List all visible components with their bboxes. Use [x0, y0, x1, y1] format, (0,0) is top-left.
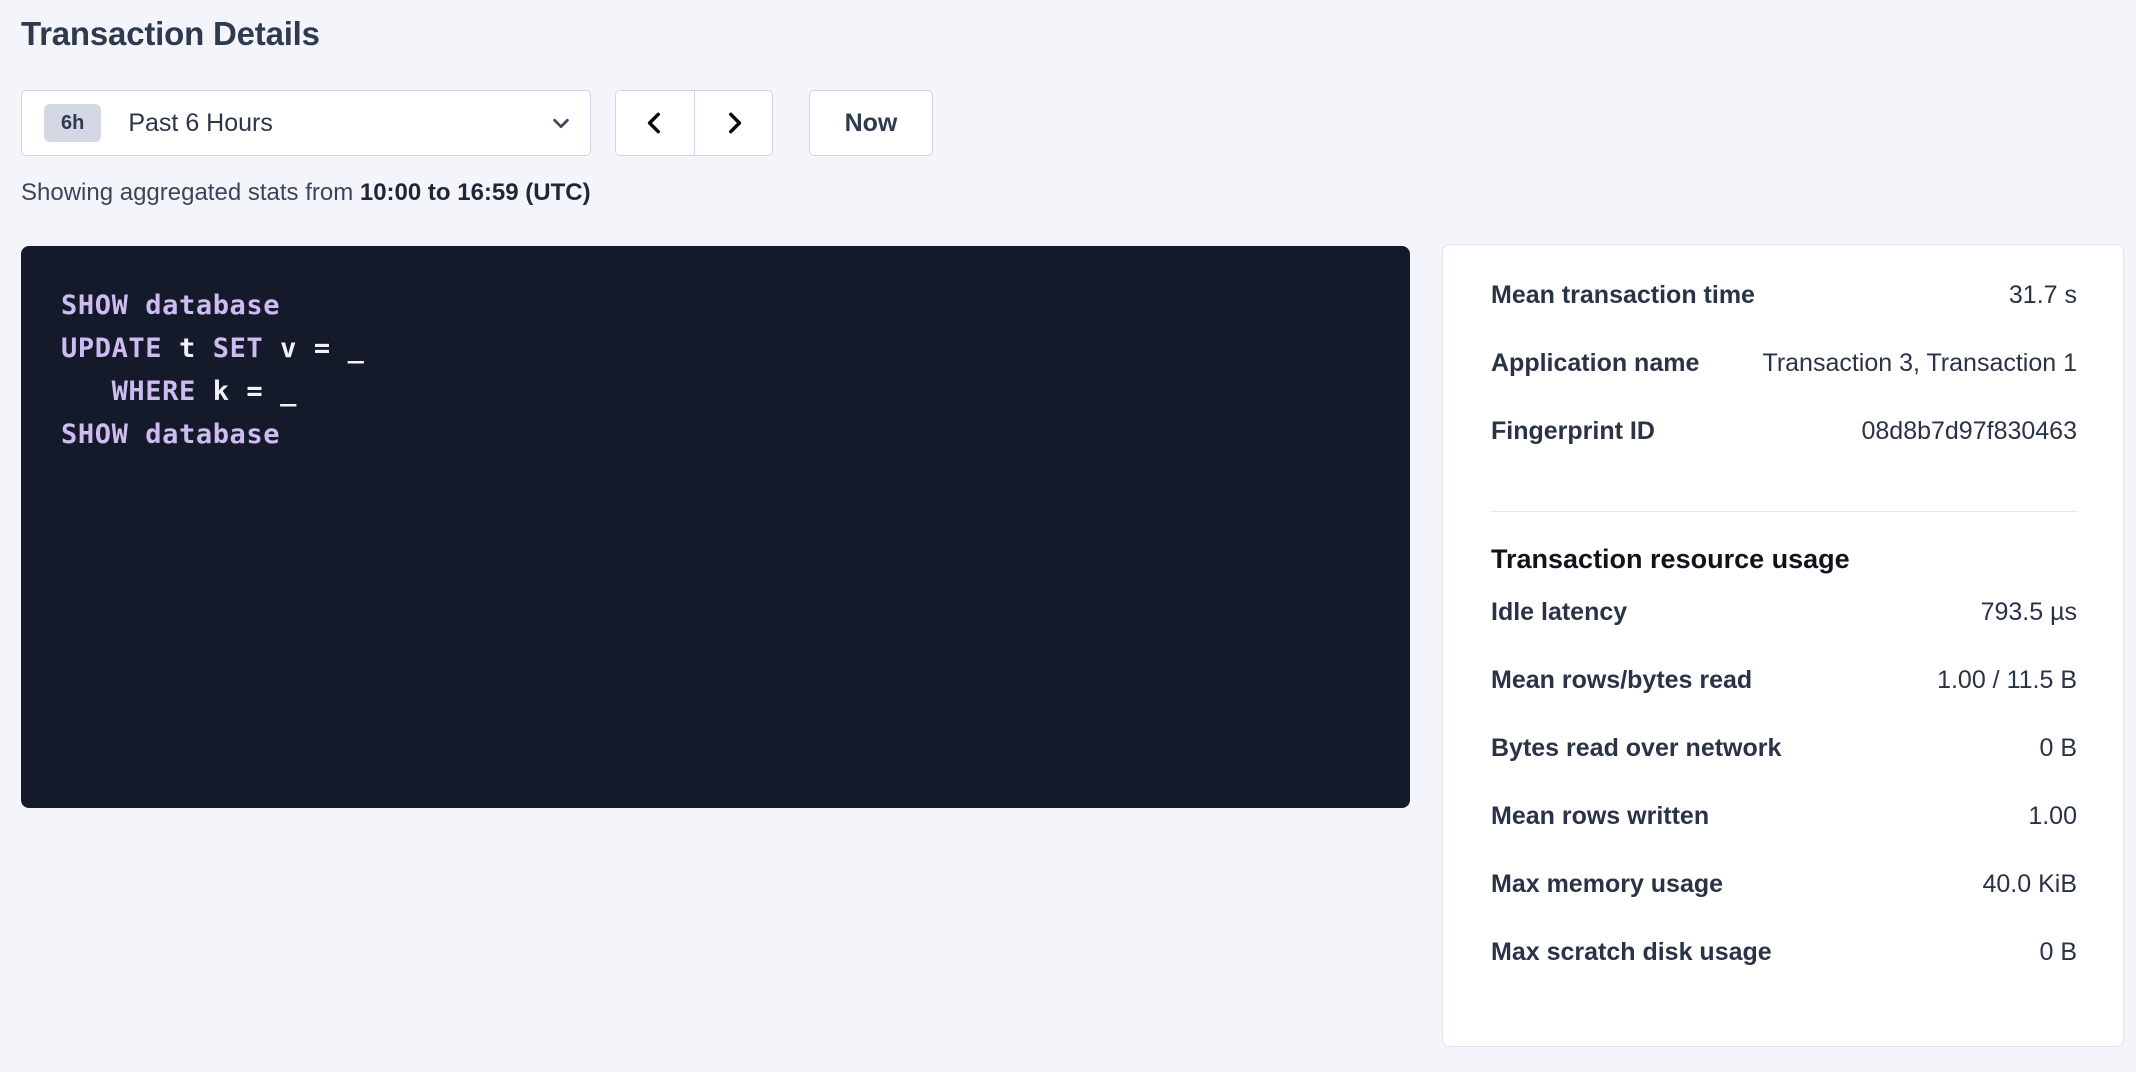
stat-value: 0 B [2039, 938, 2077, 967]
stat-row: Max scratch disk usage0 B [1491, 938, 2077, 1006]
aggregation-note-prefix: Showing aggregated stats from [21, 179, 360, 206]
resource-usage-heading: Transaction resource usage [1491, 542, 2077, 576]
sql-identifier: k = _ [196, 376, 297, 407]
stat-label: Mean rows written [1491, 802, 1709, 831]
time-range-label: Past 6 Hours [128, 109, 550, 138]
now-button[interactable]: Now [809, 90, 933, 156]
stat-label: Max memory usage [1491, 870, 1723, 899]
stat-row: Mean rows written1.00 [1491, 802, 2077, 870]
sql-identifier: v = _ [263, 333, 364, 364]
stat-row: Idle latency793.5 µs [1491, 598, 2077, 666]
sql-keyword: WHERE [112, 376, 196, 407]
previous-period-button[interactable] [616, 91, 694, 155]
stat-row: Application nameTransaction 3, Transacti… [1491, 349, 2077, 417]
stat-value: 31.7 s [2009, 281, 2077, 310]
sql-keyword: SET [213, 333, 264, 364]
stat-value: 1.00 / 11.5 B [1937, 666, 2077, 695]
sql-keyword: UPDATE [61, 333, 162, 364]
stat-label: Mean transaction time [1491, 281, 1755, 310]
sql-statement-panel[interactable]: SHOW database UPDATE t SET v = _ WHERE k… [21, 246, 1410, 808]
sql-identifier: t [162, 333, 213, 364]
sql-keyword: database [145, 419, 280, 450]
sql-keyword: SHOW [61, 290, 128, 321]
stat-row: Mean transaction time31.7 s [1491, 281, 2077, 349]
stat-label: Fingerprint ID [1491, 417, 1655, 446]
stat-label: Idle latency [1491, 598, 1627, 627]
stat-row: Bytes read over network0 B [1491, 734, 2077, 802]
transaction-stats-panel: Mean transaction time31.7 sApplication n… [1442, 244, 2124, 1047]
stat-row: Mean rows/bytes read1.00 / 11.5 B [1491, 666, 2077, 734]
sql-identifier [128, 290, 145, 321]
primary-stats-list: Mean transaction time31.7 sApplication n… [1491, 281, 2077, 485]
sql-keyword: SHOW [61, 419, 128, 450]
sql-keyword: database [145, 290, 280, 321]
stat-label: Max scratch disk usage [1491, 938, 1772, 967]
time-range-select[interactable]: 6h Past 6 Hours [21, 90, 591, 156]
resource-stats-list: Idle latency793.5 µsMean rows/bytes read… [1491, 598, 2077, 1006]
time-range-badge: 6h [44, 104, 101, 142]
time-nav-group [615, 90, 773, 156]
sql-identifier [128, 419, 145, 450]
stat-value: 0 B [2039, 734, 2077, 763]
stat-value: 40.0 KiB [1982, 870, 2077, 899]
stat-label: Bytes read over network [1491, 734, 1781, 763]
sql-identifier [61, 376, 112, 407]
time-range-toolbar: 6h Past 6 Hours Now [21, 90, 933, 156]
stat-value: 793.5 µs [1981, 598, 2077, 627]
stats-divider [1491, 511, 2077, 512]
stat-label: Mean rows/bytes read [1491, 666, 1752, 695]
stat-value: 1.00 [2028, 802, 2077, 831]
transaction-details-page: Transaction Details 6h Past 6 Hours Now [0, 0, 2136, 1072]
stat-label: Application name [1491, 349, 1699, 378]
next-period-button[interactable] [694, 91, 772, 155]
stat-row: Fingerprint ID08d8b7d97f830463 [1491, 417, 2077, 485]
stat-row: Max memory usage40.0 KiB [1491, 870, 2077, 938]
aggregation-note: Showing aggregated stats from 10:00 to 1… [21, 178, 591, 208]
stat-value: Transaction 3, Transaction 1 [1762, 349, 2077, 378]
chevron-left-icon [642, 110, 668, 136]
sql-statement-code: SHOW database UPDATE t SET v = _ WHERE k… [61, 284, 1370, 456]
chevron-down-icon [550, 112, 572, 134]
page-title: Transaction Details [21, 14, 320, 54]
aggregation-note-range: 10:00 to 16:59 (UTC) [360, 179, 591, 206]
chevron-right-icon [721, 110, 747, 136]
stat-value: 08d8b7d97f830463 [1861, 417, 2077, 446]
